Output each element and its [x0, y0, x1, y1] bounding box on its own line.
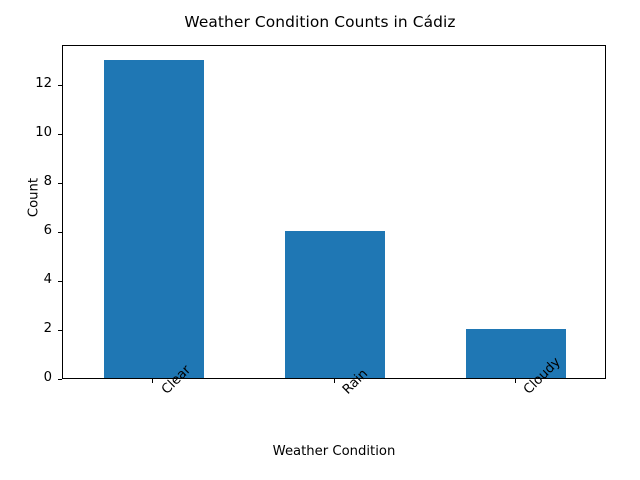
y-tick-mark	[58, 134, 62, 135]
x-tick-label: Rain	[340, 387, 351, 398]
x-tick-label: Clear	[159, 387, 170, 398]
y-tick-label: 10	[10, 125, 52, 140]
y-tick-mark	[58, 330, 62, 331]
y-tick-label: 6	[10, 223, 52, 238]
y-tick-mark	[58, 183, 62, 184]
chart-title: Weather Condition Counts in Cádiz	[0, 13, 640, 31]
y-tick-mark	[58, 281, 62, 282]
x-tick-mark	[515, 379, 516, 383]
y-tick-mark	[58, 232, 62, 233]
y-tick-label: 8	[10, 174, 52, 189]
chart-figure: Weather Condition Counts in Cádiz Count …	[0, 0, 640, 480]
x-tick-mark	[334, 379, 335, 383]
bar-clear[interactable]	[104, 60, 204, 378]
y-tick-label: 2	[10, 321, 52, 336]
y-tick-mark	[58, 85, 62, 86]
y-tick-label: 4	[10, 272, 52, 287]
x-axis-label: Weather Condition	[62, 444, 606, 459]
plot-area	[62, 45, 606, 379]
x-tick-mark	[152, 379, 153, 383]
x-tick-label: Cloudy	[521, 387, 532, 398]
y-tick-label: 0	[10, 370, 52, 385]
bar-rain[interactable]	[285, 231, 385, 378]
y-tick-label: 12	[10, 76, 52, 91]
bars-layer	[63, 46, 605, 378]
y-tick-mark	[58, 379, 62, 380]
